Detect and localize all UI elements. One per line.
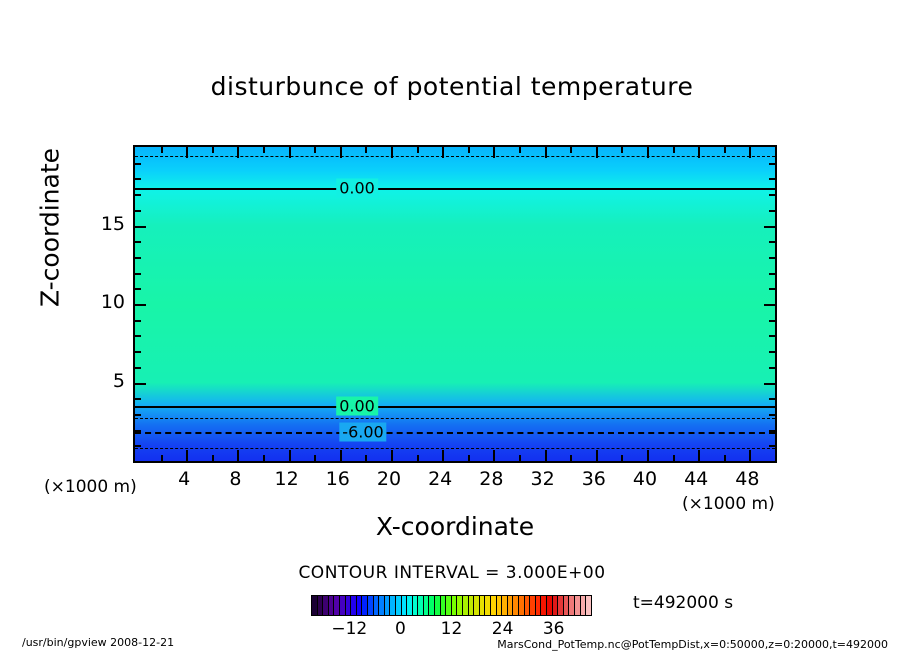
contour-label-minus-six: -6.00 bbox=[339, 423, 386, 442]
y-tick-label-15: 15 bbox=[73, 213, 125, 235]
x-tick-top-28 bbox=[493, 147, 495, 158]
y-tick-left-8 bbox=[135, 335, 141, 337]
y-tick-left-5 bbox=[135, 383, 146, 385]
y-tick-label-10: 10 bbox=[73, 291, 125, 313]
footer-dataset-info: MarsCond_PotTemp.nc@PotTempDist,x=0:5000… bbox=[497, 638, 888, 651]
x-tick-label-28: 28 bbox=[479, 468, 503, 490]
x-tick-bottom-36 bbox=[596, 450, 598, 461]
x-tick-label-4: 4 bbox=[178, 468, 190, 490]
y-tick-right-6 bbox=[769, 367, 775, 369]
y-tick-right-15 bbox=[764, 226, 775, 228]
x-tick-bottom-6 bbox=[212, 455, 214, 461]
x-tick-top-44 bbox=[698, 147, 700, 158]
y-tick-label-5: 5 bbox=[73, 370, 125, 392]
footer-command-info: /usr/bin/gpview 2008-12-21 bbox=[22, 636, 174, 649]
x-tick-bottom-48 bbox=[749, 450, 751, 461]
colorbar-tick-label-36: 36 bbox=[543, 619, 565, 639]
x-tick-top-10 bbox=[263, 147, 265, 153]
y-tick-left-12 bbox=[135, 273, 141, 275]
y-tick-left-2 bbox=[135, 430, 141, 432]
y-tick-right-1 bbox=[769, 445, 775, 447]
y-tick-right-5 bbox=[764, 383, 775, 385]
colorbar-tick-label-24: 24 bbox=[492, 619, 514, 639]
x-tick-top-6 bbox=[212, 147, 214, 153]
x-axis-title: X-coordinate bbox=[133, 512, 777, 541]
colorbar-tick-label-12: 12 bbox=[441, 619, 463, 639]
x-tick-label-44: 44 bbox=[684, 468, 708, 490]
y-tick-right-3 bbox=[769, 414, 775, 416]
x-tick-bottom-10 bbox=[263, 455, 265, 461]
y-tick-left-13 bbox=[135, 257, 141, 259]
contour-line-zero-lower bbox=[135, 406, 775, 408]
y-tick-right-4 bbox=[769, 398, 775, 400]
x-tick-top-32 bbox=[545, 147, 547, 158]
x-tick-label-36: 36 bbox=[582, 468, 606, 490]
y-tick-right-13 bbox=[769, 257, 775, 259]
x-tick-bottom-40 bbox=[647, 450, 649, 461]
x-tick-top-48 bbox=[749, 147, 751, 158]
y-tick-left-9 bbox=[135, 320, 141, 322]
x-tick-bottom-24 bbox=[442, 450, 444, 461]
temperature-field-raster bbox=[135, 147, 775, 461]
y-tick-left-16 bbox=[135, 210, 141, 212]
x-tick-bottom-26 bbox=[468, 455, 470, 461]
y-tick-left-6 bbox=[135, 367, 141, 369]
y-tick-right-11 bbox=[769, 288, 775, 290]
x-tick-top-30 bbox=[519, 147, 521, 153]
x-tick-label-16: 16 bbox=[326, 468, 350, 490]
y-tick-right-7 bbox=[769, 351, 775, 353]
x-tick-label-40: 40 bbox=[633, 468, 657, 490]
x-tick-label-24: 24 bbox=[428, 468, 452, 490]
x-tick-bottom-2 bbox=[161, 455, 163, 461]
x-tick-label-12: 12 bbox=[275, 468, 299, 490]
x-tick-top-24 bbox=[442, 147, 444, 158]
time-label: t=492000 s bbox=[633, 593, 733, 613]
x-tick-top-22 bbox=[417, 147, 419, 153]
y-tick-right-10 bbox=[764, 304, 775, 306]
y-tick-right-16 bbox=[769, 210, 775, 212]
contour-line-zero-upper bbox=[135, 188, 775, 190]
x-tick-top-42 bbox=[673, 147, 675, 153]
y-tick-left-11 bbox=[135, 288, 141, 290]
y-tick-left-3 bbox=[135, 414, 141, 416]
x-tick-top-2 bbox=[161, 147, 163, 153]
y-tick-left-18 bbox=[135, 178, 141, 180]
x-tick-top-40 bbox=[647, 147, 649, 158]
x-tick-bottom-4 bbox=[186, 450, 188, 461]
x-tick-bottom-20 bbox=[391, 450, 393, 461]
x-tick-bottom-8 bbox=[237, 450, 239, 461]
x-tick-bottom-44 bbox=[698, 450, 700, 461]
x-tick-label-8: 8 bbox=[229, 468, 241, 490]
x-tick-bottom-12 bbox=[289, 450, 291, 461]
x-tick-bottom-30 bbox=[519, 455, 521, 461]
page-title: disturbunce of potential temperature bbox=[0, 72, 904, 101]
x-tick-bottom-22 bbox=[417, 455, 419, 461]
x-tick-bottom-34 bbox=[570, 455, 572, 461]
x-tick-top-14 bbox=[314, 147, 316, 153]
x-tick-top-4 bbox=[186, 147, 188, 158]
x-tick-top-16 bbox=[340, 147, 342, 158]
x-tick-bottom-14 bbox=[314, 455, 316, 461]
x-axis-unit-right: (×1000 m) bbox=[682, 494, 775, 514]
y-axis-title: Z-coordinate bbox=[36, 98, 65, 358]
x-axis-tick-labels: 4812162024283236404448 bbox=[133, 468, 777, 494]
y-tick-left-14 bbox=[135, 241, 141, 243]
colorbar-tick-label--12: −12 bbox=[331, 619, 367, 639]
colorbar[interactable] bbox=[311, 595, 592, 616]
x-tick-bottom-46 bbox=[724, 455, 726, 461]
x-tick-top-38 bbox=[621, 147, 623, 153]
y-tick-right-8 bbox=[769, 335, 775, 337]
y-tick-right-14 bbox=[769, 241, 775, 243]
contour-label-zero-upper: 0.00 bbox=[336, 179, 378, 198]
x-tick-bottom-28 bbox=[493, 450, 495, 461]
x-tick-bottom-38 bbox=[621, 455, 623, 461]
contour-line-dashed-top bbox=[135, 156, 775, 157]
y-tick-left-10 bbox=[135, 304, 146, 306]
x-tick-label-32: 32 bbox=[531, 468, 555, 490]
y-tick-right-18 bbox=[769, 178, 775, 180]
colorbar-tick-label-0: 0 bbox=[395, 619, 406, 639]
y-tick-left-19 bbox=[135, 163, 141, 165]
x-tick-bottom-32 bbox=[545, 450, 547, 461]
x-tick-top-26 bbox=[468, 147, 470, 153]
contour-line-minus-six bbox=[135, 432, 775, 434]
y-axis-tick-labels: 51015 bbox=[73, 145, 125, 463]
x-tick-label-20: 20 bbox=[377, 468, 401, 490]
x-tick-top-12 bbox=[289, 147, 291, 158]
y-tick-left-17 bbox=[135, 194, 141, 196]
contour-plot-area[interactable]: 0.00 0.00 -6.00 bbox=[133, 145, 777, 463]
x-tick-bottom-42 bbox=[673, 455, 675, 461]
x-tick-top-46 bbox=[724, 147, 726, 153]
x-tick-bottom-18 bbox=[365, 455, 367, 461]
y-tick-left-4 bbox=[135, 398, 141, 400]
x-tick-top-36 bbox=[596, 147, 598, 158]
y-tick-left-7 bbox=[135, 351, 141, 353]
y-tick-left-15 bbox=[135, 226, 146, 228]
contour-label-zero-lower: 0.00 bbox=[336, 397, 378, 416]
x-tick-top-20 bbox=[391, 147, 393, 158]
contour-line-dashed-b bbox=[135, 448, 775, 449]
y-tick-left-1 bbox=[135, 445, 141, 447]
y-tick-right-2 bbox=[769, 430, 775, 432]
y-tick-right-9 bbox=[769, 320, 775, 322]
y-tick-right-19 bbox=[769, 163, 775, 165]
y-tick-right-12 bbox=[769, 273, 775, 275]
contour-interval-label: CONTOUR INTERVAL = 3.000E+00 bbox=[0, 563, 904, 583]
x-tick-label-48: 48 bbox=[735, 468, 759, 490]
x-axis-unit-left: (×1000 m) bbox=[44, 477, 137, 497]
x-tick-top-34 bbox=[570, 147, 572, 153]
y-tick-right-17 bbox=[769, 194, 775, 196]
x-tick-bottom-16 bbox=[340, 450, 342, 461]
colorbar-cell-49 bbox=[586, 596, 591, 615]
x-tick-top-18 bbox=[365, 147, 367, 153]
x-tick-top-8 bbox=[237, 147, 239, 158]
contour-line-dashed-a bbox=[135, 418, 775, 419]
